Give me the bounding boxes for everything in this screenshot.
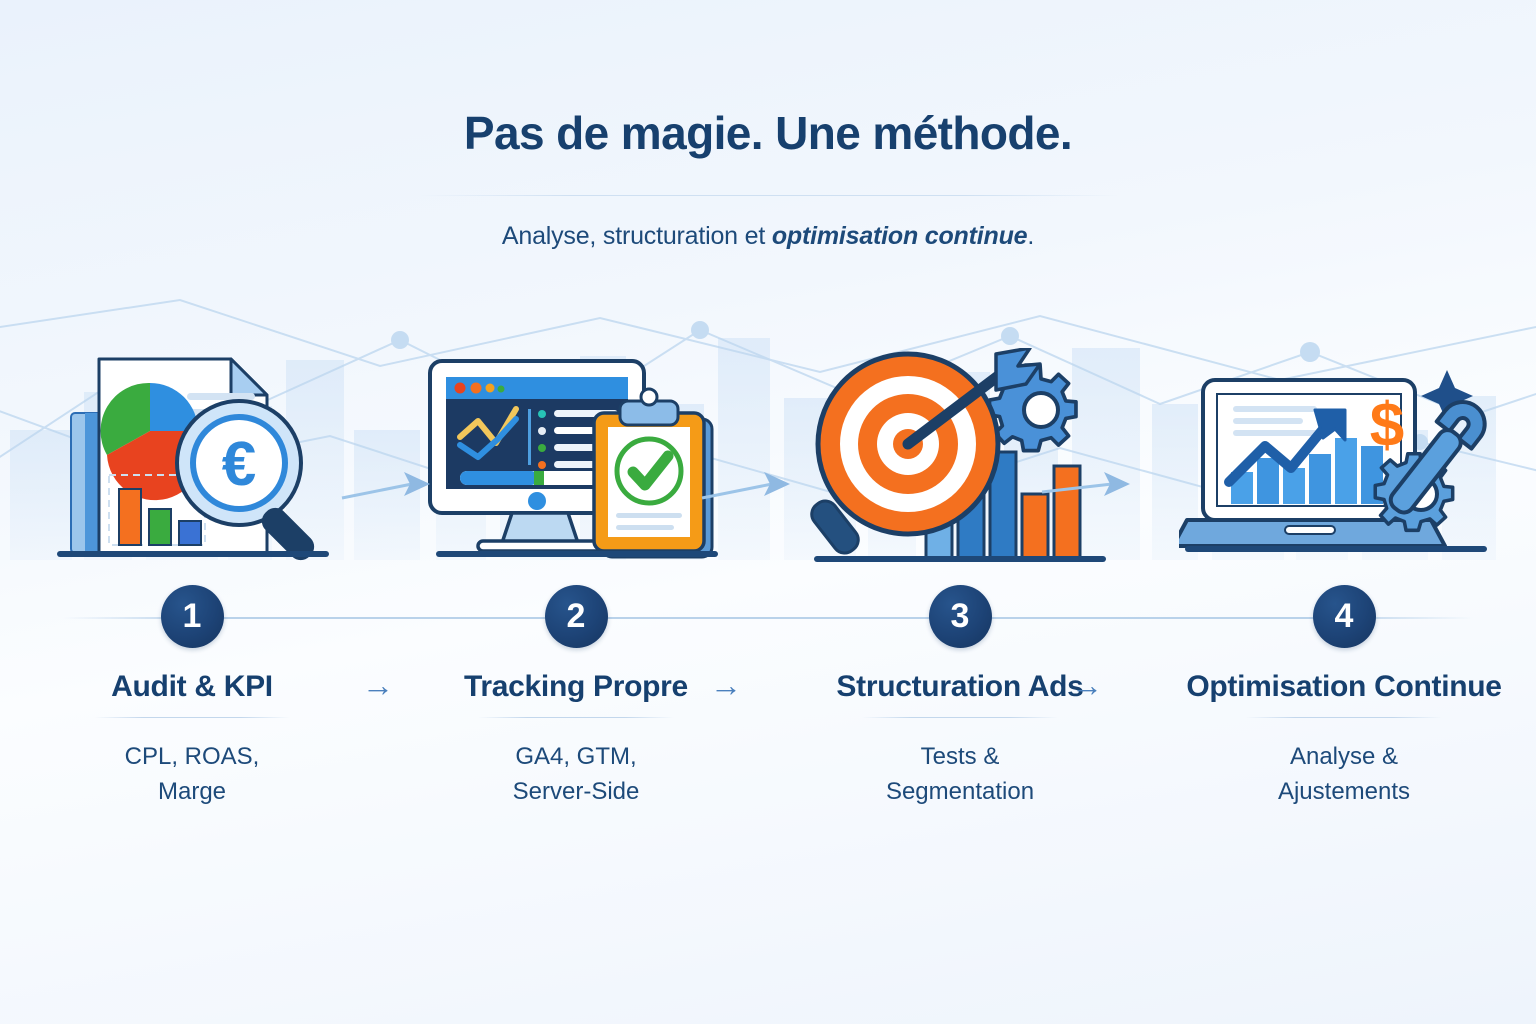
step-2-badge: 2 [545, 585, 608, 648]
dollar-icon: $ [1370, 391, 1404, 460]
illustration-step-1: € [0, 330, 384, 568]
step-3-title: Structuration Ads [836, 670, 1083, 704]
step-2[interactable]: 2 Tracking Propre GA4, GTM, Server-Side [384, 585, 768, 810]
step-4-description: Analyse & Ajustements [1278, 740, 1410, 810]
step-3[interactable]: 3 Structuration Ads Tests & Segmentation [768, 585, 1152, 810]
page-subtitle: Analyse, structuration et optimisation c… [0, 222, 1536, 251]
document-pie-bar-magnifier-euro-icon: € [27, 343, 357, 568]
subtitle-emphasis: optimisation continue [772, 222, 1028, 250]
target-arrow-gear-bars-icon [800, 348, 1120, 568]
dashboard-progress-bar [460, 471, 612, 485]
header-block: Pas de magie. Une méthode. Analyse, stru… [0, 0, 1536, 251]
step-1[interactable]: 1 Audit & KPI CPL, ROAS, Marge [0, 585, 384, 810]
subtitle-prefix: Analyse, structuration et [502, 222, 772, 250]
step-2-title: Tracking Propre [464, 670, 688, 704]
step-3-badge: 3 [929, 585, 992, 648]
step-4-badge: 4 [1313, 585, 1376, 648]
step-3-underline [862, 717, 1058, 718]
step-1-description: CPL, ROAS, Marge [125, 740, 260, 810]
step-2-description: GA4, GTM, Server-Side [513, 740, 640, 810]
title-divider [418, 195, 1118, 196]
svg-text:€: € [222, 430, 256, 499]
illustration-step-3 [768, 330, 1152, 568]
step-4-underline [1246, 717, 1442, 718]
illustration-step-2 [384, 330, 768, 568]
step-1-title: Audit & KPI [111, 670, 273, 704]
steps-row: 1 Audit & KPI CPL, ROAS, Marge 2 Trackin… [0, 585, 1536, 810]
page-title: Pas de magie. Une méthode. [0, 108, 1536, 159]
laptop-growth-dollar-wrench-gear-icon: $ [1179, 358, 1509, 568]
step-2-underline [478, 717, 674, 718]
monitor-dashboard-clipboard-check-icon [416, 353, 736, 568]
step-4-title: Optimisation Continue [1186, 670, 1501, 704]
step-1-badge: 1 [161, 585, 224, 648]
clipboard-icon [594, 389, 712, 557]
illustration-strip: € [0, 330, 1536, 568]
step-3-description: Tests & Segmentation [886, 740, 1034, 810]
step-1-underline [94, 717, 290, 718]
step-4[interactable]: 4 Optimisation Continue Analyse & Ajuste… [1152, 585, 1536, 810]
subtitle-suffix: . [1027, 222, 1034, 250]
illustration-step-4: $ [1152, 330, 1536, 568]
infographic-canvas: Pas de magie. Une méthode. Analyse, stru… [0, 0, 1536, 1024]
